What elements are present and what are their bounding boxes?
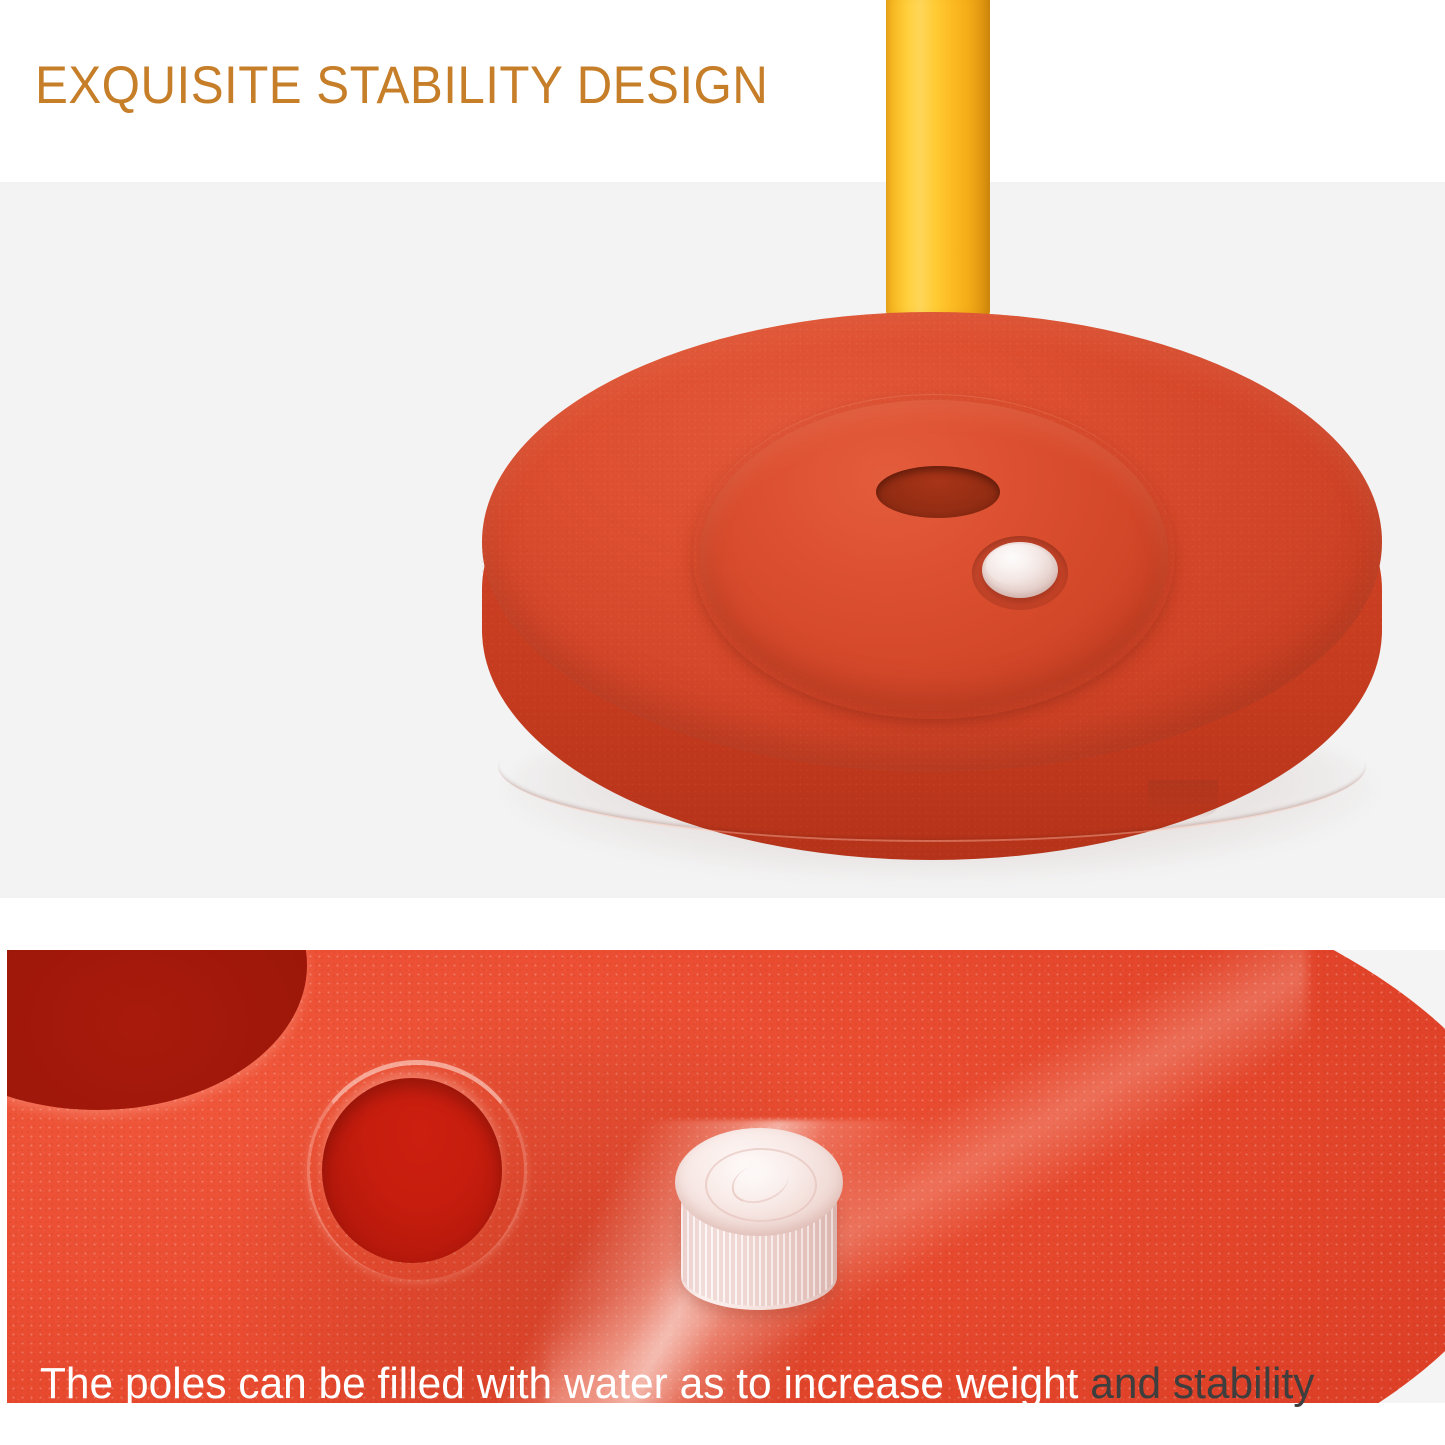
top-image-panel (0, 182, 1445, 898)
red-base-disc (0, 182, 1445, 898)
pole-socket-opening (876, 466, 1000, 518)
fill-cap-highlight (986, 544, 1052, 586)
panel-divider-gap (0, 898, 1445, 950)
top-photo-stage (0, 182, 1445, 898)
white-water-fill-screw-cap (675, 1128, 843, 1323)
base-rim-notch (1148, 780, 1218, 820)
product-feature-graphic: EXQUISITE STABILITY DESIGN (0, 0, 1445, 1445)
caption-primary-text: The poles can be filled with water as to… (40, 1359, 1078, 1408)
page-title-overlay: EXQUISITE STABILITY DESIGN (35, 58, 768, 114)
raised-center-dome (700, 400, 1168, 710)
bottom-image-panel (7, 950, 1445, 1403)
pole-socket-hole (322, 1078, 502, 1263)
caption-trailing-text: and stability (1078, 1359, 1314, 1408)
caption: The poles can be filled with water as to… (40, 1358, 1314, 1410)
